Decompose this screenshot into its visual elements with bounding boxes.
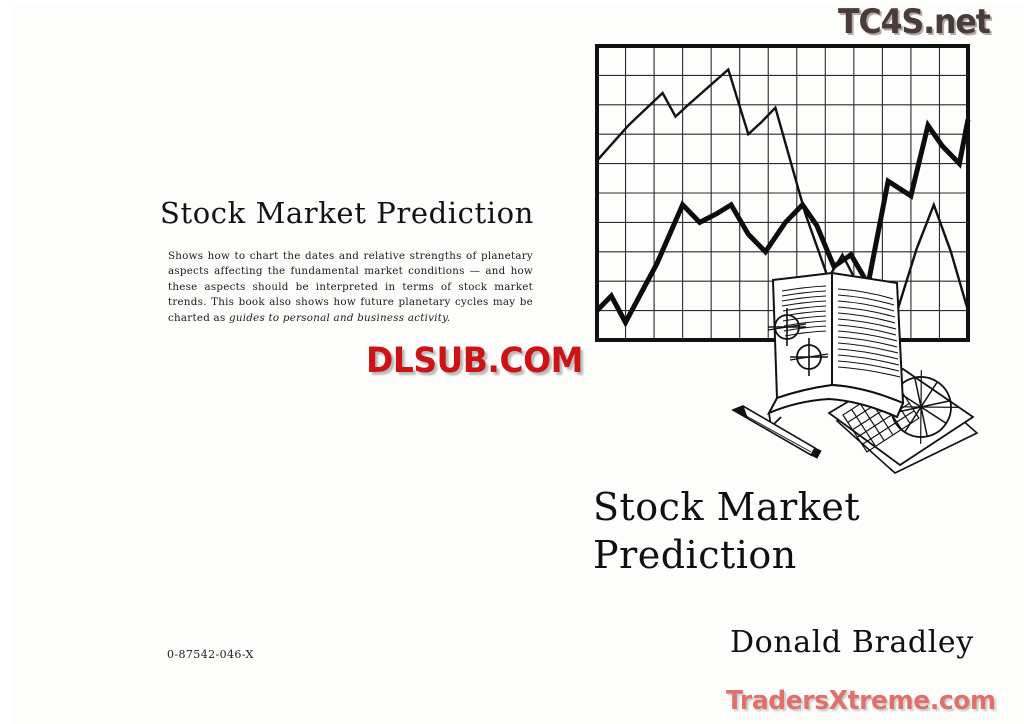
back-cover-blurb: Shows how to chart the dates and relativ… (168, 249, 533, 326)
scan-edge-left (0, 0, 10, 724)
book-cover-scan: Stock Market Prediction Shows how to cha… (0, 0, 1024, 724)
isbn-number: 0-87542-046-X (167, 648, 254, 661)
pencil-illustration (733, 406, 821, 458)
back-cover-panel: Stock Market Prediction Shows how to cha… (0, 0, 560, 724)
desk-illustration (725, 265, 985, 480)
back-cover-title: Stock Market Prediction (160, 196, 550, 230)
front-cover-title: Stock Market Prediction (593, 483, 993, 579)
scan-edge-top (0, 0, 1024, 4)
front-cover-title-line1: Stock Market (593, 483, 993, 531)
front-cover-title-line2: Prediction (593, 531, 993, 579)
open-book-illustration (768, 273, 903, 427)
back-cover-blurb-italic: guides to personal and business activity… (229, 312, 450, 324)
front-cover-author: Donald Bradley (730, 625, 974, 660)
